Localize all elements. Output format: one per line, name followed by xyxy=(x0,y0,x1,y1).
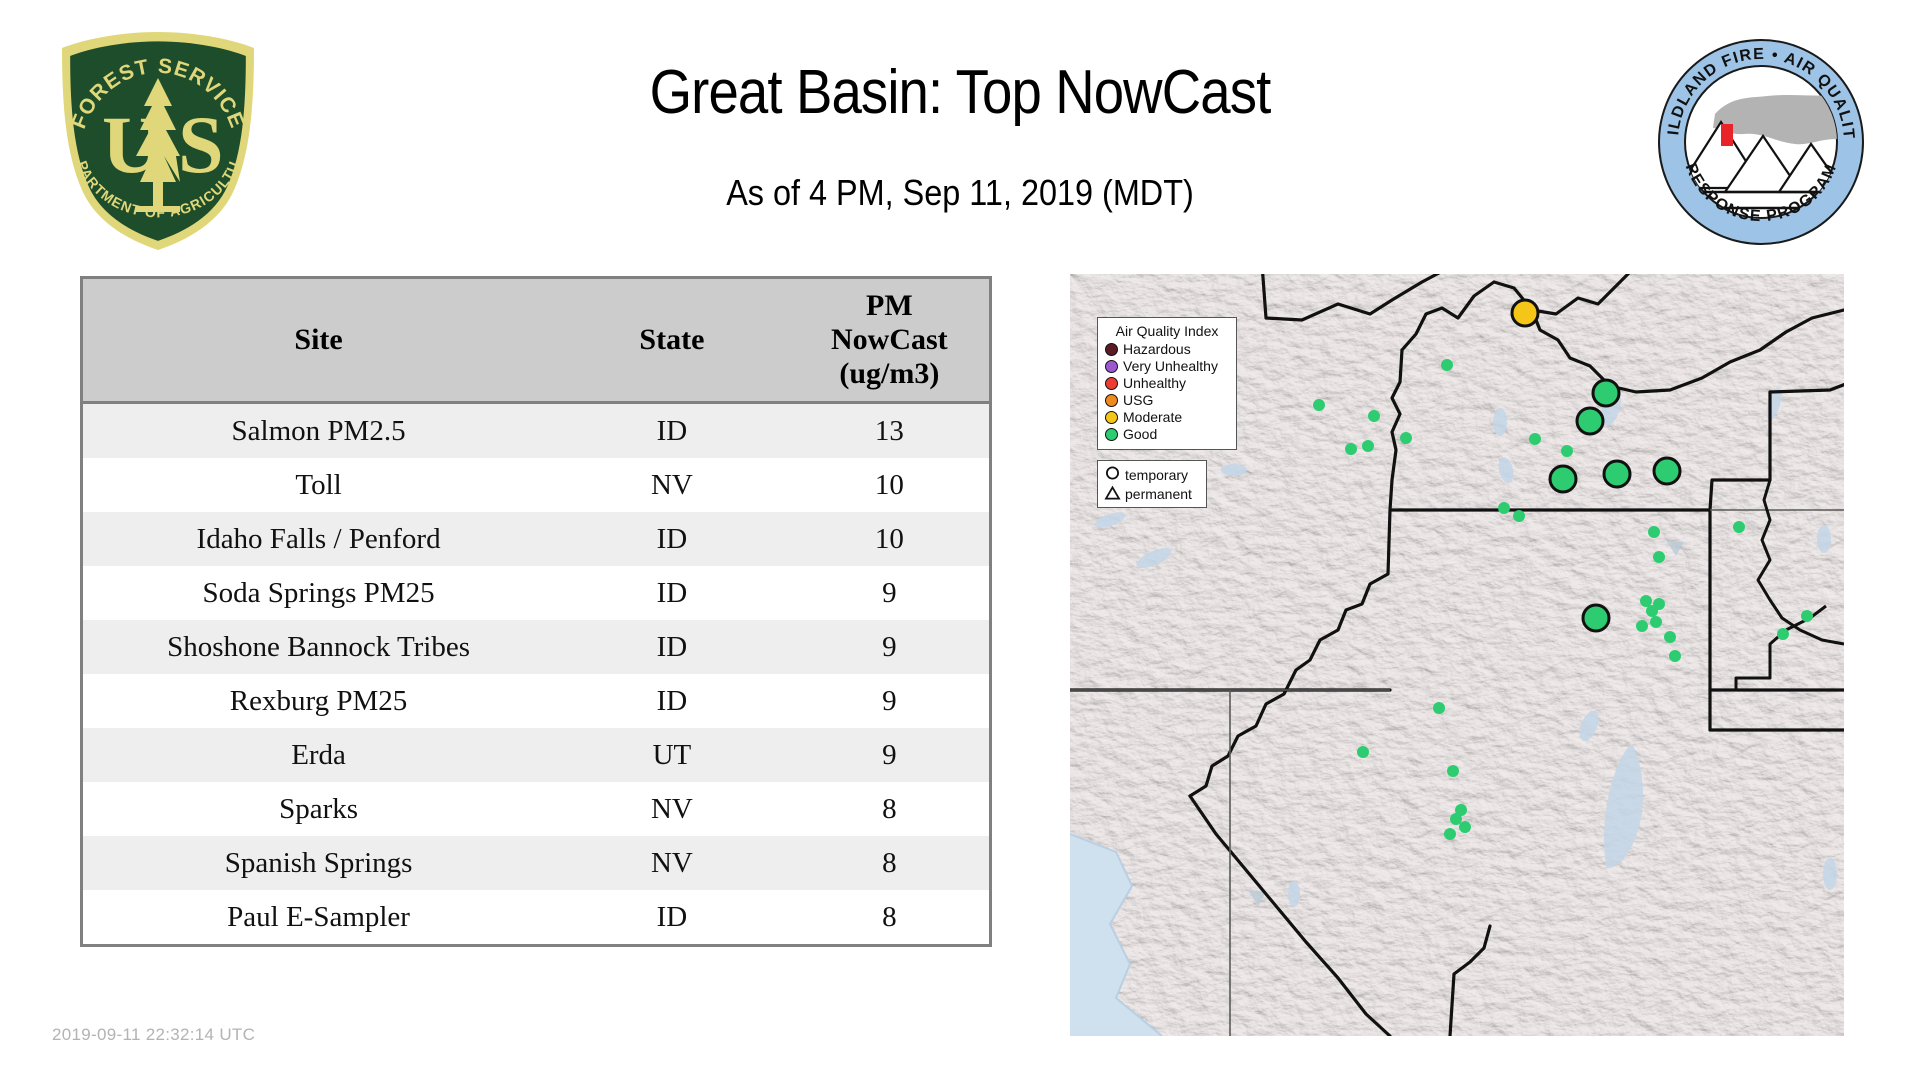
aqi-legend-row: Very Unhealthy xyxy=(1105,358,1229,375)
site-cell: Toll xyxy=(83,458,554,512)
pm-nowcast-cell: 10 xyxy=(790,458,989,512)
site-cell: Spanish Springs xyxy=(83,836,554,890)
generated-timestamp: 2019-09-11 22:32:14 UTC xyxy=(52,1025,255,1045)
site-cell: Sparks xyxy=(83,782,554,836)
pm-nowcast-cell: 10 xyxy=(790,512,989,566)
state-cell: UT xyxy=(554,728,790,782)
monitor-marker[interactable] xyxy=(1529,433,1541,445)
column-header-site: Site xyxy=(83,279,554,403)
monitor-marker[interactable] xyxy=(1654,458,1680,484)
pm-nowcast-cell: 13 xyxy=(790,403,989,459)
site-cell: Idaho Falls / Penford xyxy=(83,512,554,566)
state-cell: NV xyxy=(554,836,790,890)
monitor-marker[interactable] xyxy=(1433,702,1445,714)
aqi-legend-swatch xyxy=(1105,343,1118,356)
monitor-marker[interactable] xyxy=(1650,616,1662,628)
monitor-marker[interactable] xyxy=(1450,813,1462,825)
page-subtitle: As of 4 PM, Sep 11, 2019 (MDT) xyxy=(366,172,1554,214)
monitor-marker[interactable] xyxy=(1498,502,1510,514)
site-cell: Salmon PM2.5 xyxy=(83,403,554,459)
table-row: Shoshone Bannock TribesID9 xyxy=(83,620,989,674)
pm-nowcast-cell: 8 xyxy=(790,782,989,836)
table-row: ErdaUT9 xyxy=(83,728,989,782)
column-header-state: State xyxy=(554,279,790,403)
monitor-marker[interactable] xyxy=(1653,598,1665,610)
pm-nowcast-cell: 8 xyxy=(790,836,989,890)
site-cell: Soda Springs PM25 xyxy=(83,566,554,620)
monitor-marker[interactable] xyxy=(1593,380,1619,406)
red-flag-icon xyxy=(1721,124,1733,146)
pm-nowcast-line1: PM xyxy=(866,289,913,322)
table-header-row: Site State PM NowCast (ug/m3) xyxy=(83,279,989,403)
site-cell: Shoshone Bannock Tribes xyxy=(83,620,554,674)
column-header-pm-nowcast: PM NowCast (ug/m3) xyxy=(790,279,989,403)
aqi-legend-swatch xyxy=(1105,377,1118,390)
monitor-marker[interactable] xyxy=(1669,650,1681,662)
aqi-legend-label: Very Unhealthy xyxy=(1123,359,1218,374)
monitor-marker[interactable] xyxy=(1577,408,1603,434)
monitor-marker[interactable] xyxy=(1636,620,1648,632)
aqi-legend-label: Moderate xyxy=(1123,410,1182,425)
usfs-s-letter: S xyxy=(178,99,224,190)
state-cell: ID xyxy=(554,674,790,728)
aqi-legend: Air Quality Index HazardousVery Unhealth… xyxy=(1097,317,1237,450)
aqi-legend-row: Moderate xyxy=(1105,409,1229,426)
legend-row-temporary: temporary xyxy=(1104,465,1200,484)
page-title: Great Basin: Top NowCast xyxy=(379,58,1541,128)
usfs-shield-logo: FOREST SERVICE U S DEPARTMENT OF AGRICUL… xyxy=(48,26,268,254)
monitor-marker[interactable] xyxy=(1604,461,1630,487)
aqi-legend-row: Hazardous xyxy=(1105,341,1229,358)
monitor-marker[interactable] xyxy=(1550,466,1576,492)
monitor-marker[interactable] xyxy=(1653,551,1665,563)
legend-row-permanent: permanent xyxy=(1104,484,1200,503)
monitor-type-legend: temporary permanent xyxy=(1097,460,1207,508)
monitor-marker[interactable] xyxy=(1512,300,1538,326)
monitor-marker[interactable] xyxy=(1362,440,1374,452)
monitor-marker[interactable] xyxy=(1513,510,1525,522)
aqi-legend-label: Hazardous xyxy=(1123,342,1191,357)
monitor-marker[interactable] xyxy=(1561,445,1573,457)
aqi-legend-label: Good xyxy=(1123,427,1157,442)
monitor-marker[interactable] xyxy=(1357,746,1369,758)
state-cell: ID xyxy=(554,890,790,944)
site-cell: Rexburg PM25 xyxy=(83,674,554,728)
pm-nowcast-line2: NowCast xyxy=(831,323,948,356)
table-row: Soda Springs PM25ID9 xyxy=(83,566,989,620)
aqi-legend-row: Good xyxy=(1105,426,1229,443)
monitor-marker[interactable] xyxy=(1368,410,1380,422)
aqi-legend-swatch xyxy=(1105,360,1118,373)
monitor-marker[interactable] xyxy=(1777,628,1789,640)
monitor-marker[interactable] xyxy=(1801,610,1813,622)
air-quality-map[interactable]: Air Quality Index HazardousVery Unhealth… xyxy=(1070,274,1844,1036)
legend-label-temporary: temporary xyxy=(1125,467,1188,483)
monitor-marker[interactable] xyxy=(1441,359,1453,371)
monitor-marker[interactable] xyxy=(1447,765,1459,777)
aqi-legend-row: Unhealthy xyxy=(1105,375,1229,392)
pm-nowcast-line3: (ug/m3) xyxy=(839,357,939,390)
aqi-legend-row: USG xyxy=(1105,392,1229,409)
monitor-marker[interactable] xyxy=(1345,443,1357,455)
pm-nowcast-cell: 9 xyxy=(790,566,989,620)
legend-label-permanent: permanent xyxy=(1125,486,1192,502)
table-row: Salmon PM2.5ID13 xyxy=(83,403,989,459)
monitor-marker[interactable] xyxy=(1583,605,1609,631)
monitor-marker[interactable] xyxy=(1400,432,1412,444)
aqi-legend-label: USG xyxy=(1123,393,1153,408)
monitor-marker[interactable] xyxy=(1640,595,1652,607)
triangle-outline-icon xyxy=(1104,485,1121,502)
top-nowcast-table: Site State PM NowCast (ug/m3) Salmon PM2… xyxy=(80,276,992,947)
aqi-legend-swatch xyxy=(1105,394,1118,407)
pm-nowcast-cell: 9 xyxy=(790,674,989,728)
state-cell: NV xyxy=(554,458,790,512)
pm-nowcast-cell: 8 xyxy=(790,890,989,944)
pm-nowcast-cell: 9 xyxy=(790,728,989,782)
table-row: Spanish SpringsNV8 xyxy=(83,836,989,890)
monitor-marker[interactable] xyxy=(1444,828,1456,840)
monitor-marker[interactable] xyxy=(1733,521,1745,533)
monitor-marker[interactable] xyxy=(1313,399,1325,411)
site-cell: Erda xyxy=(83,728,554,782)
state-cell: NV xyxy=(554,782,790,836)
table-row: Paul E-SamplerID8 xyxy=(83,890,989,944)
state-cell: ID xyxy=(554,403,790,459)
state-cell: ID xyxy=(554,566,790,620)
monitor-marker[interactable] xyxy=(1664,631,1676,643)
circle-outline-icon xyxy=(1104,466,1121,483)
table-row: Rexburg PM25ID9 xyxy=(83,674,989,728)
monitor-marker[interactable] xyxy=(1459,821,1471,833)
aqi-legend-title: Air Quality Index xyxy=(1105,323,1229,339)
table-row: SparksNV8 xyxy=(83,782,989,836)
wfaqrp-seal-logo: WILDLAND FIRE • AIR QUALITY RESPONSE PRO… xyxy=(1655,36,1867,248)
pm-nowcast-cell: 9 xyxy=(790,620,989,674)
site-cell: Paul E-Sampler xyxy=(83,890,554,944)
table-row: TollNV10 xyxy=(83,458,989,512)
aqi-legend-swatch xyxy=(1105,428,1118,441)
state-cell: ID xyxy=(554,620,790,674)
aqi-legend-label: Unhealthy xyxy=(1123,376,1186,391)
table-row: Idaho Falls / PenfordID10 xyxy=(83,512,989,566)
state-cell: ID xyxy=(554,512,790,566)
aqi-legend-swatch xyxy=(1105,411,1118,424)
monitor-marker[interactable] xyxy=(1648,526,1660,538)
